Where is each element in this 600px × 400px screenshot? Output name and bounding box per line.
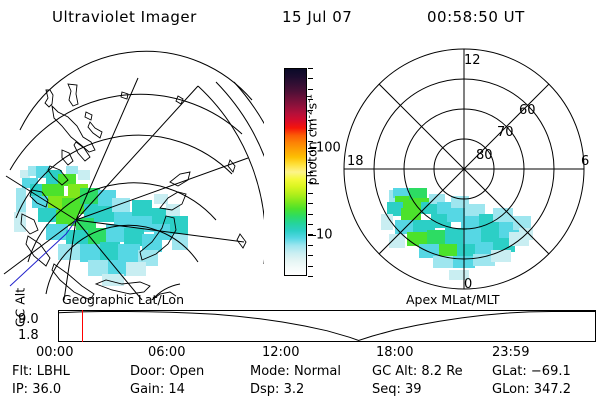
mlt-panel-caption: Apex MLat/MLT: [406, 292, 500, 307]
time-axis-label: 18:00: [376, 345, 413, 360]
colorbar-minor-tick: [308, 214, 313, 215]
colorbar-tick-label: 100: [316, 141, 341, 156]
status-field-label: Seq:: [372, 382, 405, 397]
status-field-value: Normal: [294, 364, 341, 379]
colorbar-tick-label: 10: [316, 228, 333, 243]
geographic-map-panel[interactable]: [2, 38, 264, 300]
status-field: IP: 36.0: [12, 382, 61, 397]
colorbar-minor-tick: [308, 110, 313, 111]
status-field-label: GLat:: [492, 364, 531, 379]
colorbar-minor-tick: [308, 172, 313, 173]
status-row: IP: 36.0Gain: 14Dsp: 3.2Seq: 39GLon: 347…: [0, 382, 600, 400]
status-field-value: 8.2 Re: [421, 364, 462, 379]
colorbar-minor-tick: [308, 141, 313, 142]
status-field: GC Alt: 8.2 Re: [372, 364, 463, 379]
status-field: GLat: −69.1: [492, 364, 571, 379]
status-field-value: LBHL: [37, 364, 70, 379]
mlt-label-12: 12: [464, 53, 481, 68]
status-field: Flt: LBHL: [12, 364, 70, 379]
mlt-polar-grid: [344, 49, 584, 289]
status-field-label: Door:: [130, 364, 170, 379]
mlt-polar-panel[interactable]: 12 18 6 0 60 70 80: [333, 38, 595, 300]
page-title: Ultraviolet Imager: [52, 8, 197, 26]
status-field-value: 3.2: [284, 382, 305, 397]
colorbar-major-tick: [308, 235, 316, 236]
altitude-timeline-plot[interactable]: [58, 310, 596, 342]
mlat-label-60: 60: [519, 103, 536, 118]
colorbar-minor-tick: [308, 255, 313, 256]
colorbar-minor-tick: [308, 245, 313, 246]
current-time-marker[interactable]: [82, 310, 83, 342]
colorbar-gradient: [285, 69, 306, 275]
status-field-value: 39: [405, 382, 422, 397]
status-field-value: −69.1: [531, 364, 571, 379]
time-axis-label: 23:59: [492, 345, 529, 360]
mlat-label-70: 70: [497, 125, 514, 140]
observation-time: 00:58:50 UT: [427, 8, 525, 26]
colorbar-minor-tick: [308, 182, 313, 183]
altitude-tick-low: 1.8: [18, 328, 39, 343]
status-panel: Flt: LBHLDoor: OpenMode: NormalGC Alt: 8…: [0, 364, 600, 400]
colorbar-minor-tick: [308, 130, 313, 131]
colorbar-minor-tick: [308, 78, 313, 79]
aurora-emission-mlt: [381, 188, 533, 280]
status-field-value: 36.0: [32, 382, 61, 397]
geographic-map-svg: [2, 38, 264, 300]
time-axis-label: 06:00: [148, 345, 185, 360]
status-field-label: GC Alt:: [372, 364, 421, 379]
colorbar-minor-tick: [308, 276, 313, 277]
status-field-value: 347.2: [534, 382, 571, 397]
colorbar-minor-tick: [308, 203, 313, 204]
colorbar-minor-tick: [308, 266, 313, 267]
status-row: Flt: LBHLDoor: OpenMode: NormalGC Alt: 8…: [0, 364, 600, 382]
colorbar-gradient-box: [284, 68, 307, 276]
mlt-polar-svg: 12 18 6 0 60 70 80: [333, 38, 595, 300]
status-field-label: GLon:: [492, 382, 534, 397]
colorbar-minor-tick: [308, 120, 313, 121]
mlt-label-18: 18: [347, 154, 364, 169]
status-field-value: Open: [170, 364, 205, 379]
altitude-plot-frame: [58, 310, 596, 342]
aurora-emission-geographic: [14, 166, 188, 286]
colorbar[interactable]: photon cm-2s-1 10010: [268, 60, 330, 290]
altitude-tick-high: 9.0: [18, 312, 39, 327]
status-field: Dsp: 3.2: [250, 382, 304, 397]
status-field-label: Flt:: [12, 364, 37, 379]
mlt-label-0: 0: [464, 277, 472, 292]
status-field: GLon: 347.2: [492, 382, 571, 397]
status-field-label: Gain:: [130, 382, 168, 397]
status-field: Gain: 14: [130, 382, 185, 397]
colorbar-minor-tick: [308, 89, 313, 90]
status-field-label: Mode:: [250, 364, 294, 379]
colorbar-minor-tick: [308, 162, 313, 163]
time-axis-label: 12:00: [262, 345, 299, 360]
colorbar-minor-tick: [308, 193, 313, 194]
geographic-panel-caption: Geographic Lat/Lon: [62, 292, 184, 307]
mlt-label-6: 6: [581, 154, 589, 169]
status-field-label: Dsp:: [250, 382, 284, 397]
colorbar-minor-tick: [308, 224, 313, 225]
colorbar-minor-tick: [308, 99, 313, 100]
colorbar-minor-tick: [308, 68, 313, 69]
observation-date: 15 Jul 07: [282, 8, 352, 26]
mlat-label-80: 80: [476, 148, 493, 163]
status-field: Door: Open: [130, 364, 204, 379]
colorbar-major-tick: [308, 148, 316, 149]
time-axis-label: 00:00: [36, 345, 73, 360]
status-field-value: 14: [168, 382, 185, 397]
status-field-label: IP:: [12, 382, 32, 397]
colorbar-minor-tick: [308, 151, 313, 152]
status-field: Seq: 39: [372, 382, 422, 397]
status-field: Mode: Normal: [250, 364, 341, 379]
